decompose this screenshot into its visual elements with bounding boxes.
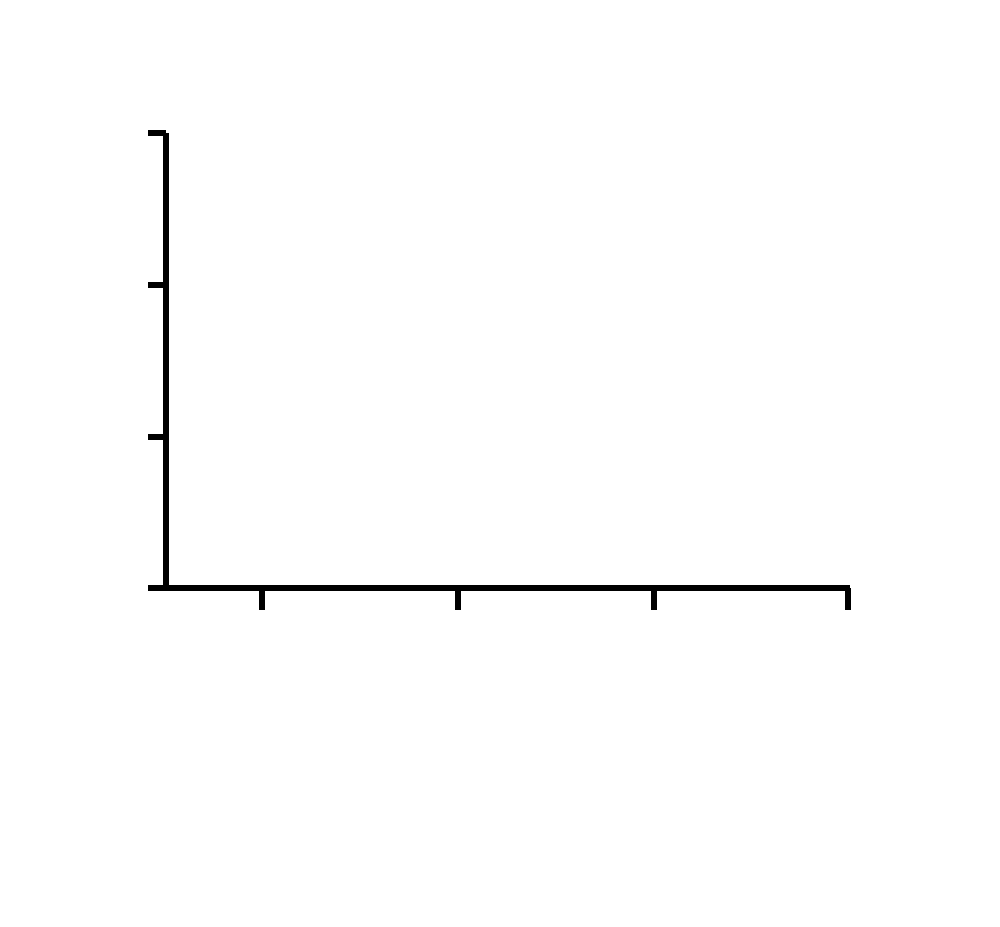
chart-canvas (0, 0, 1000, 760)
elisa-figure (0, 0, 1000, 927)
plot-area (0, 0, 1000, 760)
